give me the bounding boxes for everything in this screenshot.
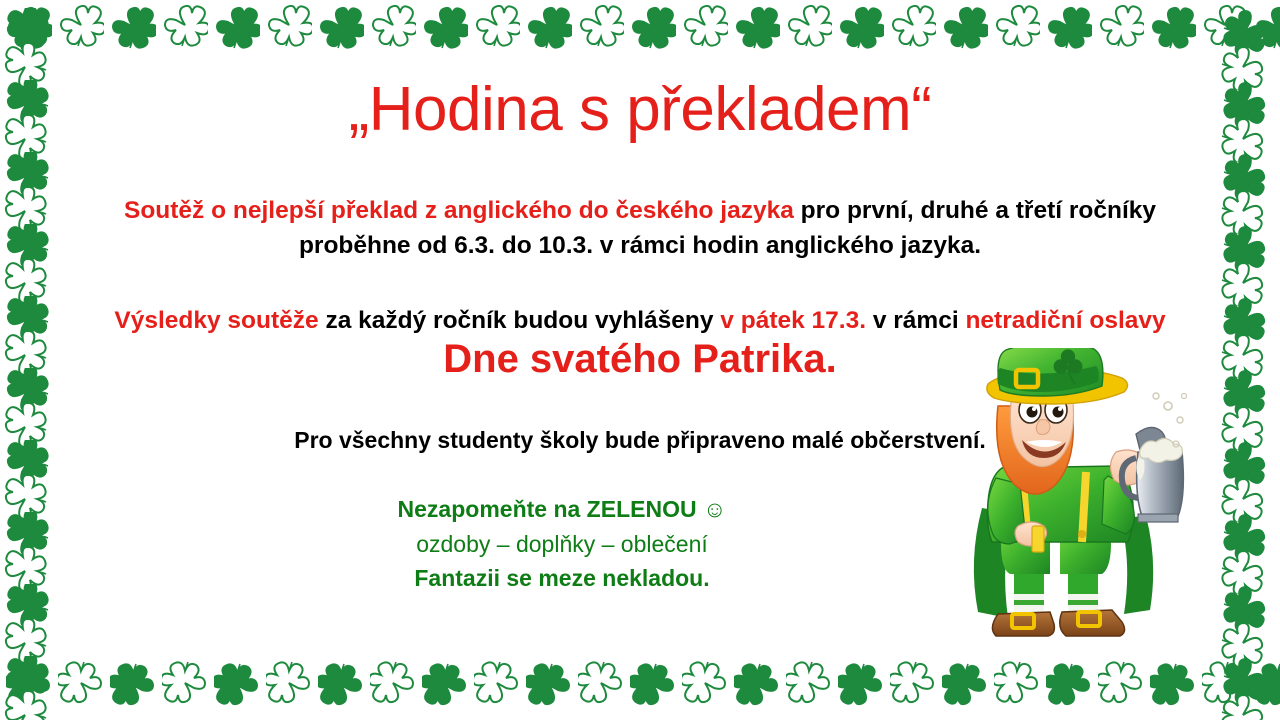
shamrock-icon	[6, 4, 52, 50]
paragraph1-line2: proběhne od 6.3. do 10.3. v rámci hodin …	[299, 232, 981, 259]
paragraph-competition: Soutěž o nejlepší překlad z anglického d…	[62, 194, 1218, 264]
shamrock-icon	[786, 2, 832, 48]
shamrock-icon	[162, 660, 208, 706]
shamrock-icon	[942, 4, 988, 50]
shamrock-icon	[422, 4, 468, 50]
shamrock-icon	[2, 476, 48, 522]
shamrock-icon	[318, 4, 364, 50]
paragraph2-red-results: Výsledky soutěže	[114, 307, 318, 334]
shamrock-icon	[110, 4, 156, 50]
shamrock-icon	[1222, 224, 1268, 270]
shamrock-icon	[578, 660, 624, 706]
shamrock-icon	[1202, 2, 1248, 48]
shamrock-icon	[4, 224, 50, 270]
shamrock-icon	[4, 656, 50, 702]
green-line-1: Nezapomeňte na ZELENOU ☺	[62, 492, 1062, 527]
shamrock-icon	[6, 662, 52, 708]
shamrock-icon	[266, 660, 312, 706]
page-title: „Hodina s překladem“	[62, 74, 1218, 145]
shamrock-icon	[838, 662, 884, 708]
shamrock-icon	[2, 116, 48, 162]
shamrock-icon	[1202, 660, 1248, 706]
shamrock-icon	[2, 692, 48, 720]
shamrock-icon	[1098, 660, 1144, 706]
shamrock-icon	[4, 512, 50, 558]
shamrock-icon	[1222, 80, 1268, 126]
border-left	[0, 0, 62, 720]
paragraph1-red-text: Soutěž o nejlepší překlad z anglického d…	[124, 197, 794, 224]
shamrock-icon	[214, 662, 260, 708]
shamrock-icon	[526, 662, 572, 708]
shamrock-icon	[4, 296, 50, 342]
paragraph2-black-2: v rámci	[866, 307, 965, 334]
shamrock-icon	[58, 660, 104, 706]
green-line-1-text: Nezapomeňte na ZELENOU	[398, 496, 697, 522]
leprechaun-illustration	[940, 348, 1190, 644]
shamrock-icon	[994, 2, 1040, 48]
shamrock-icon	[2, 404, 48, 450]
shamrock-icon	[58, 2, 104, 48]
shamrock-icon	[1222, 584, 1268, 630]
shamrock-icon	[994, 660, 1040, 706]
shamrock-icon	[890, 660, 936, 706]
shamrock-icon	[1220, 620, 1266, 666]
green-line-2: ozdoby – doplňky – oblečení	[62, 527, 1062, 562]
shamrock-icon	[1220, 548, 1266, 594]
shamrock-icon	[1150, 4, 1196, 50]
border-bottom	[0, 658, 1280, 720]
shamrock-icon	[4, 440, 50, 486]
shamrock-icon	[2, 332, 48, 378]
paragraph2-red-celebration: netradiční oslavy	[965, 307, 1165, 334]
shamrock-icon	[1098, 2, 1144, 48]
shamrock-icon	[1222, 152, 1268, 198]
shamrock-icon	[682, 2, 728, 48]
shamrock-icon	[422, 662, 468, 708]
shamrock-icon	[1222, 296, 1268, 342]
shamrock-icon	[4, 368, 50, 414]
border-top	[0, 0, 1280, 62]
shamrock-icon	[4, 584, 50, 630]
shamrock-icon	[318, 662, 364, 708]
shamrock-icon	[942, 662, 988, 708]
shamrock-icon	[4, 152, 50, 198]
shamrock-icon	[162, 2, 208, 48]
shamrock-icon	[682, 660, 728, 706]
shamrock-icon	[4, 80, 50, 126]
shamrock-icon	[630, 4, 676, 50]
shamrock-icon	[1222, 512, 1268, 558]
shamrock-icon	[474, 660, 520, 706]
green-notice-block: Nezapomeňte na ZELENOU ☺ ozdoby – doplňk…	[62, 492, 1062, 596]
smiley-face-icon: ☺	[703, 496, 726, 522]
paragraph2-red-date: v pátek 17.3.	[720, 307, 866, 334]
shamrock-icon	[1254, 4, 1280, 50]
paragraph2-black-1: za každý ročník budou vyhlášeny	[319, 307, 721, 334]
shamrock-icon	[370, 2, 416, 48]
shamrock-icon	[266, 2, 312, 48]
shamrock-icon	[1222, 440, 1268, 486]
shamrock-icon	[1222, 8, 1268, 54]
shamrock-icon	[890, 2, 936, 48]
poster-canvas: „Hodina s překladem“ Soutěž o nejlepší p…	[0, 0, 1280, 720]
shamrock-icon	[1254, 662, 1280, 708]
shamrock-icon	[1220, 404, 1266, 450]
shamrock-icon	[110, 662, 156, 708]
shamrock-icon	[1222, 368, 1268, 414]
shamrock-icon	[4, 8, 50, 54]
shamrock-icon	[838, 4, 884, 50]
shamrock-icon	[578, 2, 624, 48]
shamrock-icon	[1220, 476, 1266, 522]
shamrock-icon	[1046, 662, 1092, 708]
green-line-3: Fantazii se meze nekladou.	[62, 561, 1062, 596]
shamrock-icon	[1220, 44, 1266, 90]
shamrock-icon	[2, 188, 48, 234]
shamrock-icon	[2, 260, 48, 306]
shamrock-icon	[1046, 4, 1092, 50]
shamrock-icon	[1220, 260, 1266, 306]
paragraph1-black-text: pro první, druhé a třetí ročníky	[794, 197, 1156, 224]
border-right	[1218, 0, 1280, 720]
shamrock-icon	[2, 44, 48, 90]
shamrock-icon	[370, 660, 416, 706]
shamrock-icon	[1220, 692, 1266, 720]
shamrock-icon	[1220, 188, 1266, 234]
shamrock-icon	[474, 2, 520, 48]
shamrock-icon	[214, 4, 260, 50]
shamrock-icon	[630, 662, 676, 708]
shamrock-icon	[1150, 662, 1196, 708]
shamrock-icon	[786, 660, 832, 706]
paragraph-results: Výsledky soutěže za každý ročník budou v…	[62, 304, 1218, 339]
shamrock-icon	[1222, 656, 1268, 702]
shamrock-icon	[2, 620, 48, 666]
shamrock-icon	[1220, 332, 1266, 378]
shamrock-icon	[734, 4, 780, 50]
shamrock-icon	[734, 662, 780, 708]
shamrock-icon	[2, 548, 48, 594]
shamrock-icon	[526, 4, 572, 50]
shamrock-icon	[1220, 116, 1266, 162]
